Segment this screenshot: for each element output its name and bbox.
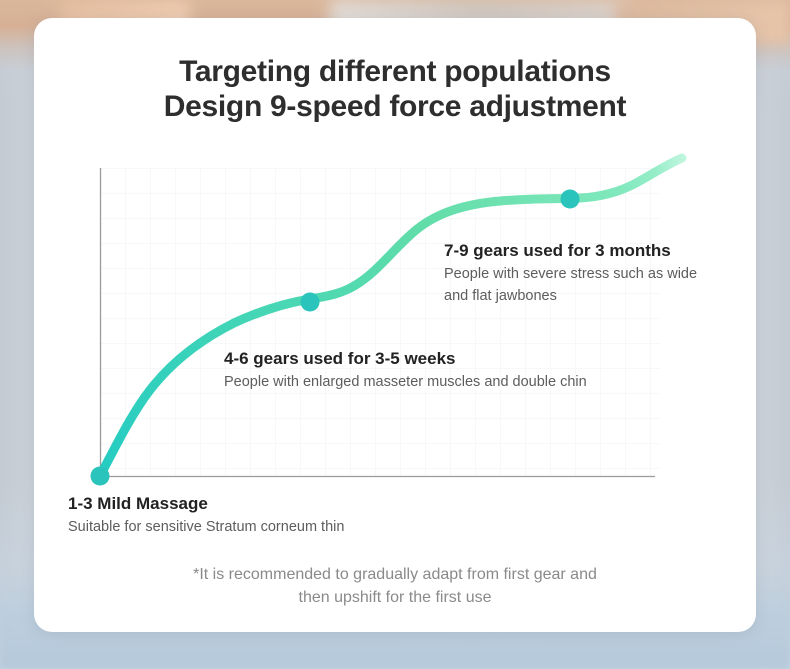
footnote-line-2: then upshift for the first use [34,586,756,609]
annotation-7-9-gears: 7-9 gears used for 3 months People with … [444,240,697,306]
info-card: Targeting different populations Design 9… [34,18,756,632]
annotation-7-9-gears-subtitle-line-2: and flat jawbones [444,287,697,306]
page-title: Targeting different populations Design 9… [34,18,756,124]
title-line-2: Design 9-speed force adjustment [34,89,756,124]
annotation-4-6-gears-subtitle: People with enlarged masseter muscles an… [224,373,587,392]
chart-marker-point-2 [301,293,320,312]
annotation-1-3-mild-massage: 1-3 Mild Massage Suitable for sensitive … [68,493,344,538]
chart-marker-point-3 [561,190,580,209]
footnote-line-1: *It is recommended to gradually adapt fr… [34,563,756,586]
annotation-7-9-gears-subtitle-line-1: People with severe stress such as wide [444,265,697,284]
annotation-7-9-gears-title: 7-9 gears used for 3 months [444,240,697,261]
annotation-4-6-gears: 4-6 gears used for 3-5 weeks People with… [224,348,587,393]
annotation-1-3-mild-massage-title: 1-3 Mild Massage [68,493,344,514]
chart-marker-point-1 [91,467,110,486]
chart-gridlines [100,168,660,476]
annotation-4-6-gears-title: 4-6 gears used for 3-5 weeks [224,348,587,369]
title-line-1: Targeting different populations [34,54,756,89]
footnote: *It is recommended to gradually adapt fr… [34,563,756,609]
chart-line-series [100,158,682,476]
annotation-1-3-mild-massage-subtitle: Suitable for sensitive Stratum corneum t… [68,518,344,537]
